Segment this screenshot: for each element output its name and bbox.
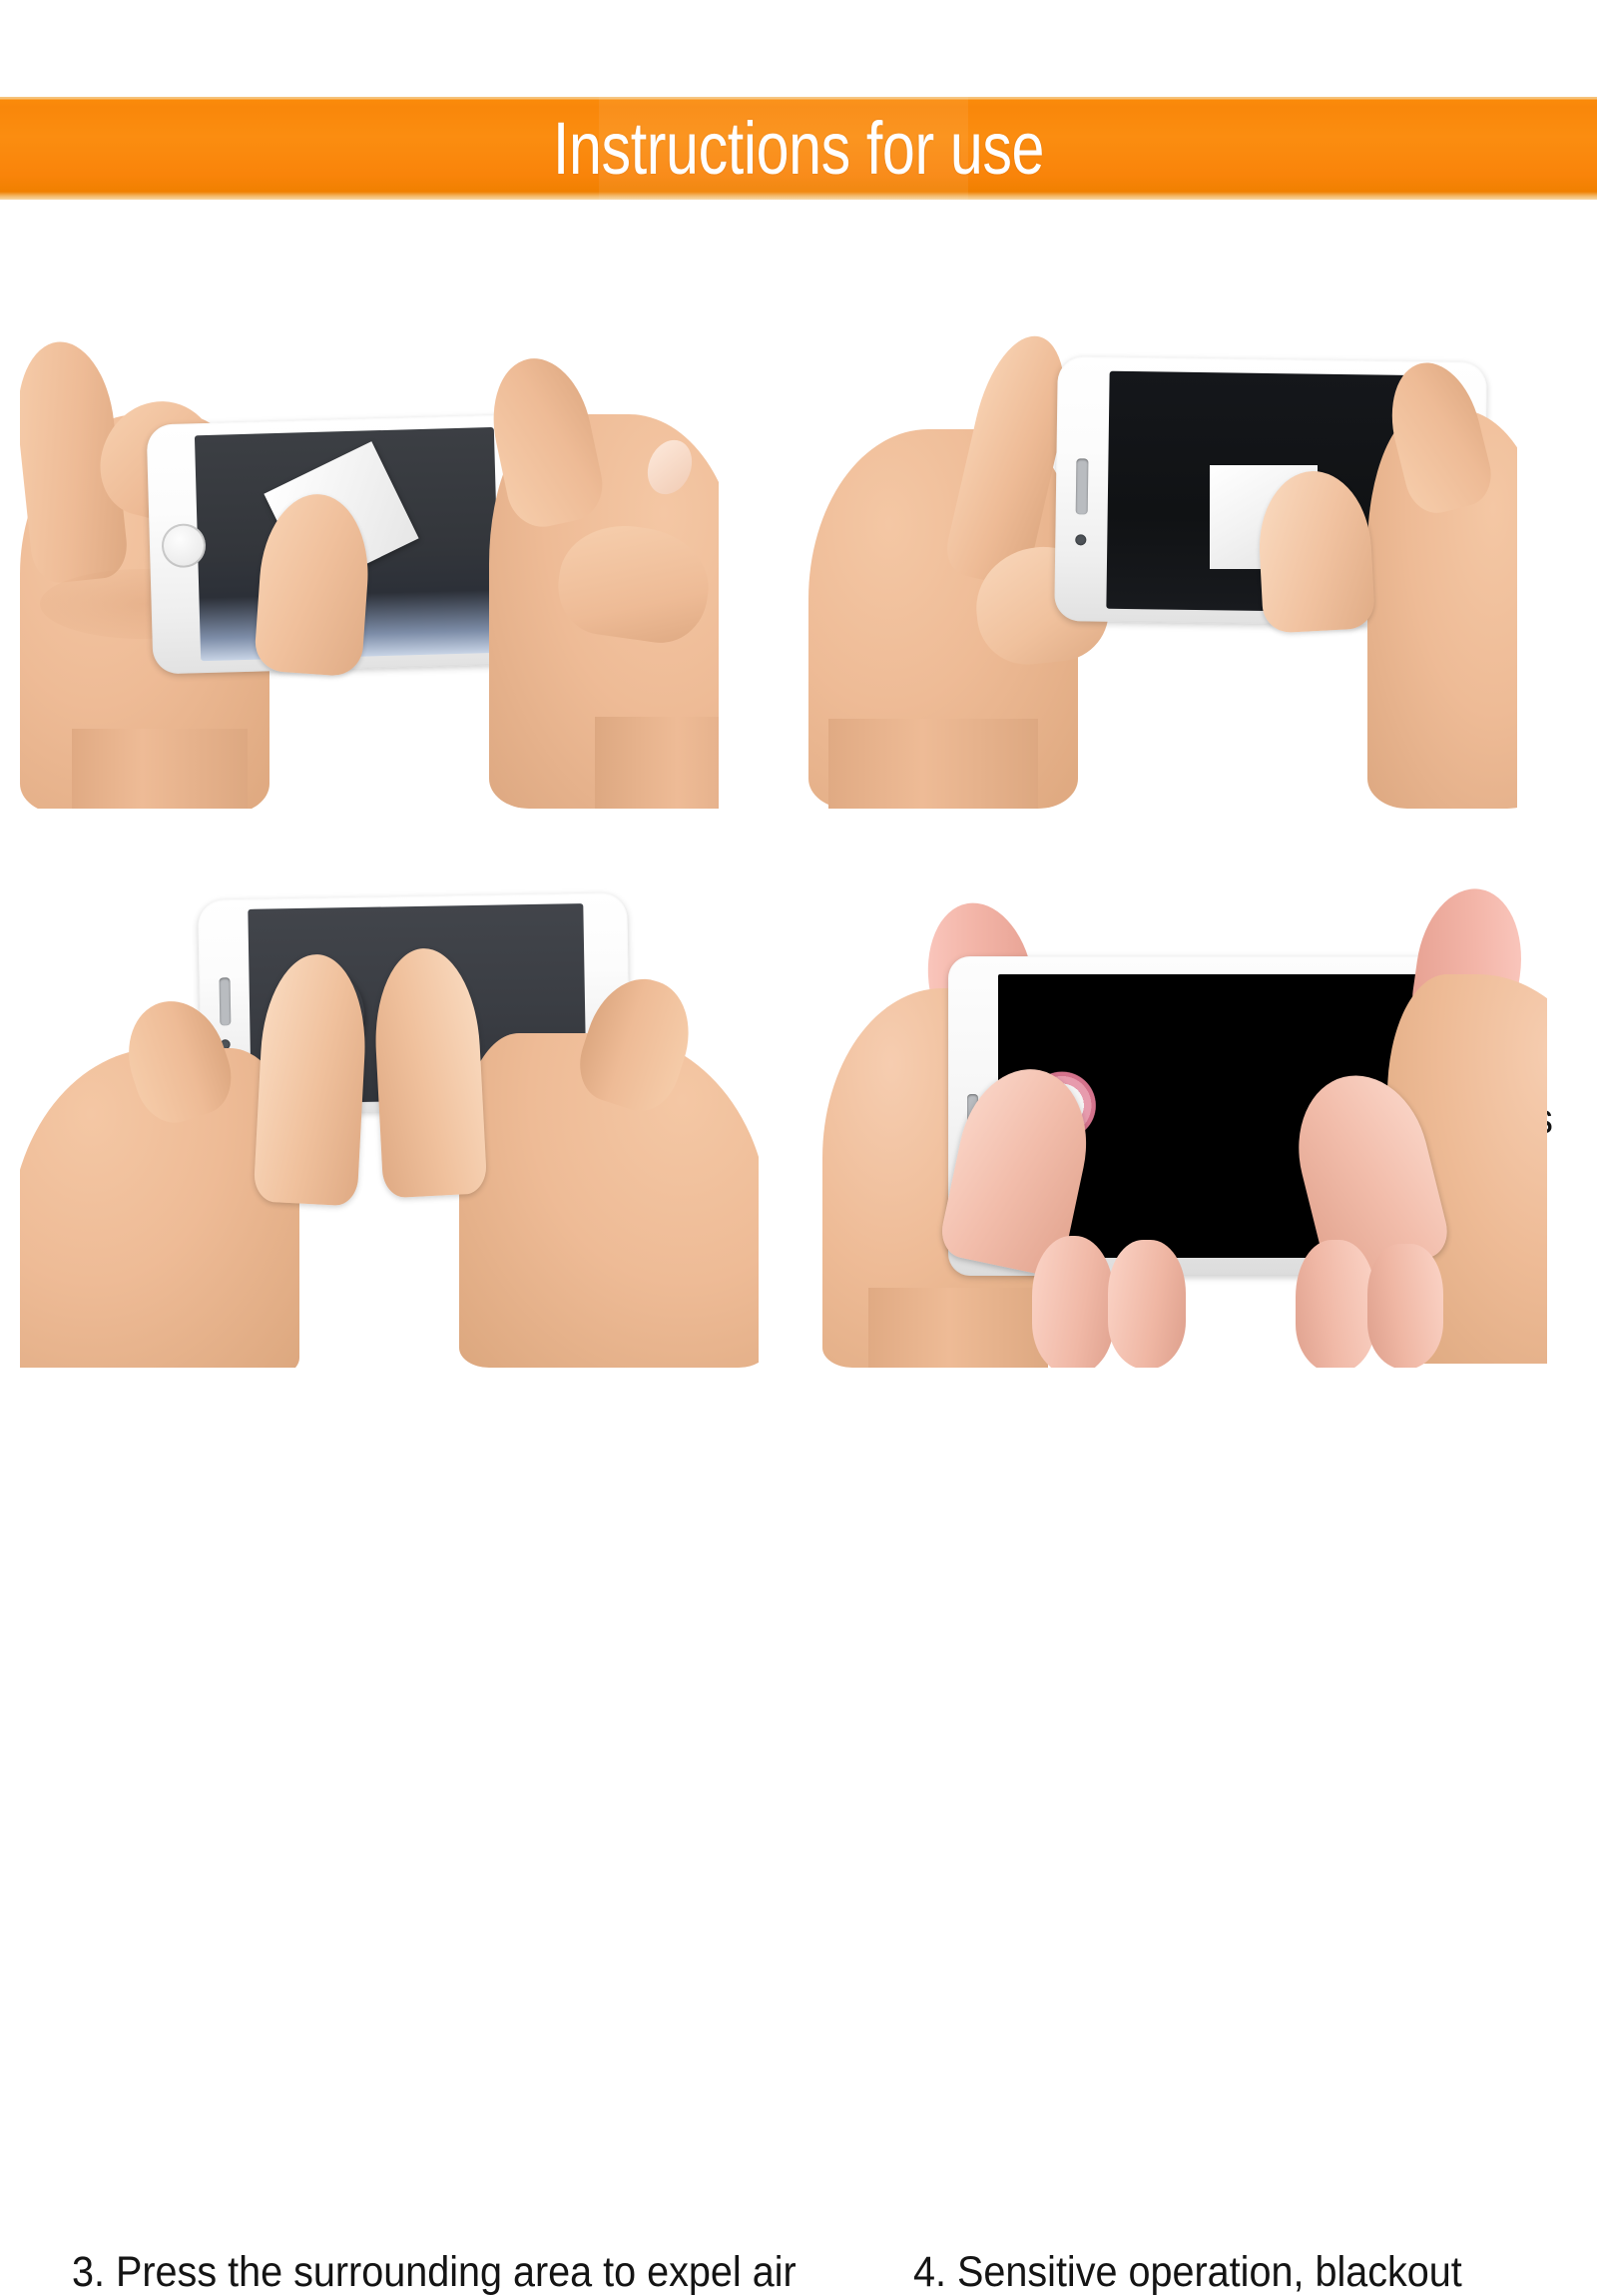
supporting-finger-left (1032, 1236, 1114, 1368)
supporting-finger-right-2 (1367, 1244, 1443, 1368)
left-hand (20, 988, 399, 1368)
step-4-caption: 4. Sensitive operation, blackout (913, 2251, 1462, 2294)
step-panel-3: 3. Press the surrounding area to expel a… (0, 868, 779, 1447)
page-title: Instructions for use (160, 97, 1437, 200)
right-hand (1238, 349, 1517, 809)
step-3-caption: 3. Press the surrounding area to expel a… (72, 2251, 797, 2294)
right-hand (439, 319, 719, 809)
step-3-photo (20, 868, 759, 1368)
step-panel-1: 1. Clean the screen first to remove oil (0, 299, 759, 859)
step-panel-4: 4. Sensitive operation, blackout (759, 868, 1577, 1447)
supporting-finger-right (1296, 1240, 1375, 1368)
step-2-photo (798, 319, 1517, 809)
right-thumb (371, 945, 488, 1198)
right-hand (349, 978, 759, 1368)
front-camera-icon (1075, 534, 1086, 545)
earpiece-speaker-icon (1076, 458, 1089, 514)
step-4-photo (769, 868, 1547, 1368)
supporting-finger-left-2 (1108, 1240, 1186, 1368)
step-1-photo (20, 319, 719, 809)
step-panel-2: 2. Wipe the screen to avoid water beads (789, 299, 1567, 859)
page-header-banner: Instructions for use (0, 97, 1597, 200)
right-index-fingertip (1256, 468, 1375, 634)
